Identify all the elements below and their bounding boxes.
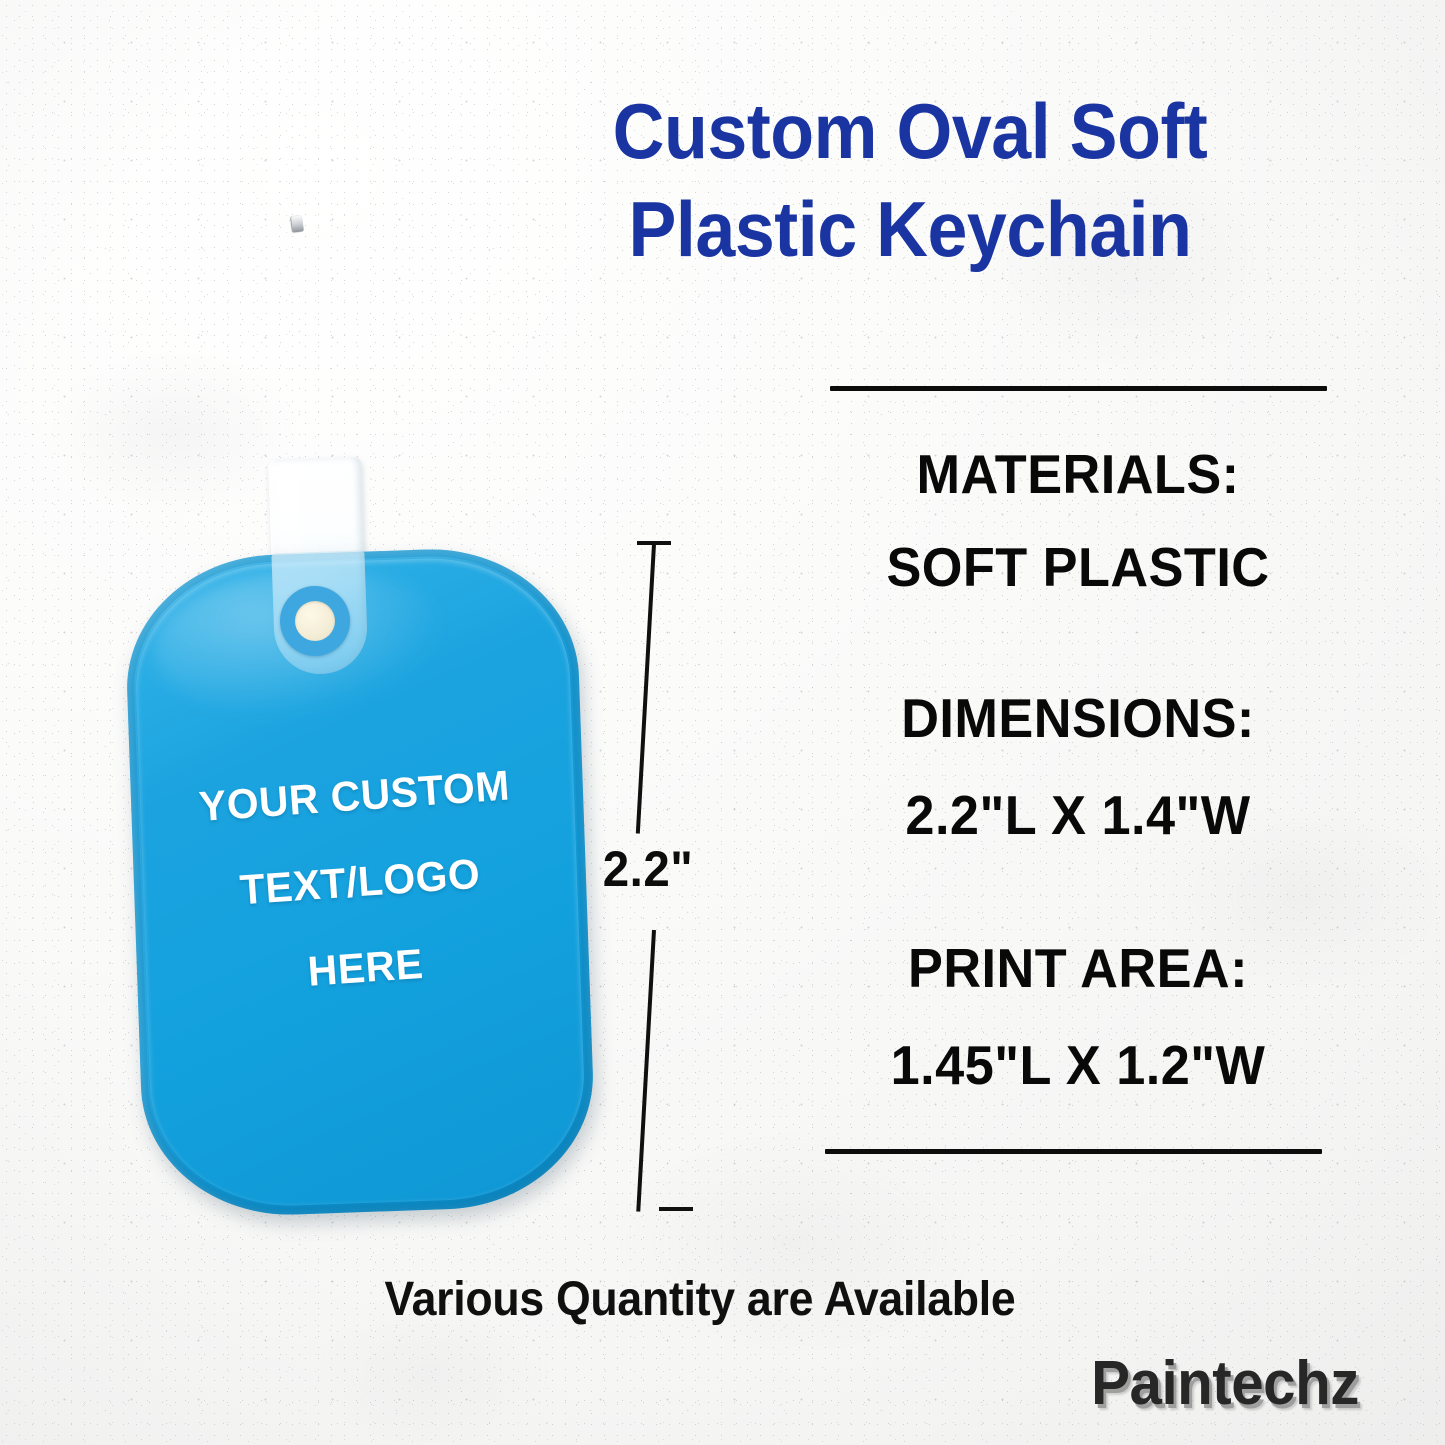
page-title: Custom Oval Soft Plastic Keychain — [505, 82, 1315, 279]
spec-value-dimensions: 2.2"L X 1.4"W — [831, 788, 1325, 843]
split-ring-gap — [291, 215, 304, 232]
spec-group-print-area: PRINT AREA: 1.45"L X 1.2"W — [818, 941, 1338, 1093]
spec-group-materials: MATERIALS: SOFT PLASTIC — [818, 447, 1338, 595]
dimension-callout: 2.2" — [596, 530, 736, 1220]
spec-label-materials: MATERIALS: — [831, 447, 1325, 502]
brand-logo: Paintechz — [1091, 1348, 1359, 1419]
dimension-line-upper — [636, 544, 656, 834]
product-infographic: Custom Oval Soft Plastic Keychain YOUR C… — [0, 0, 1445, 1445]
spec-value-materials: SOFT PLASTIC — [831, 540, 1325, 595]
spec-label-dimensions: DIMENSIONS: — [831, 691, 1325, 746]
spec-panel: MATERIALS: SOFT PLASTIC DIMENSIONS: 2.2"… — [818, 386, 1338, 1154]
dimension-line-lower — [636, 930, 656, 1212]
spec-divider-bottom — [825, 1149, 1322, 1154]
dimension-label: 2.2" — [572, 840, 724, 898]
grommet-hole — [295, 601, 335, 641]
keychain-illustration: YOUR CUSTOM TEXT/LOGO HERE — [118, 200, 618, 1230]
spec-value-print-area: 1.45"L X 1.2"W — [831, 1038, 1325, 1093]
spec-label-print-area: PRINT AREA: — [831, 941, 1325, 996]
spec-divider-top — [830, 386, 1327, 391]
page-title-line-1: Custom Oval Soft — [505, 82, 1315, 180]
page-title-line-2: Plastic Keychain — [505, 180, 1315, 278]
spec-group-dimensions: DIMENSIONS: 2.2"L X 1.4"W — [818, 691, 1338, 843]
split-ring-icon — [166, 214, 434, 482]
quantity-note: Various Quantity are Available — [272, 1272, 1128, 1327]
dimension-cap-bottom — [659, 1207, 693, 1211]
